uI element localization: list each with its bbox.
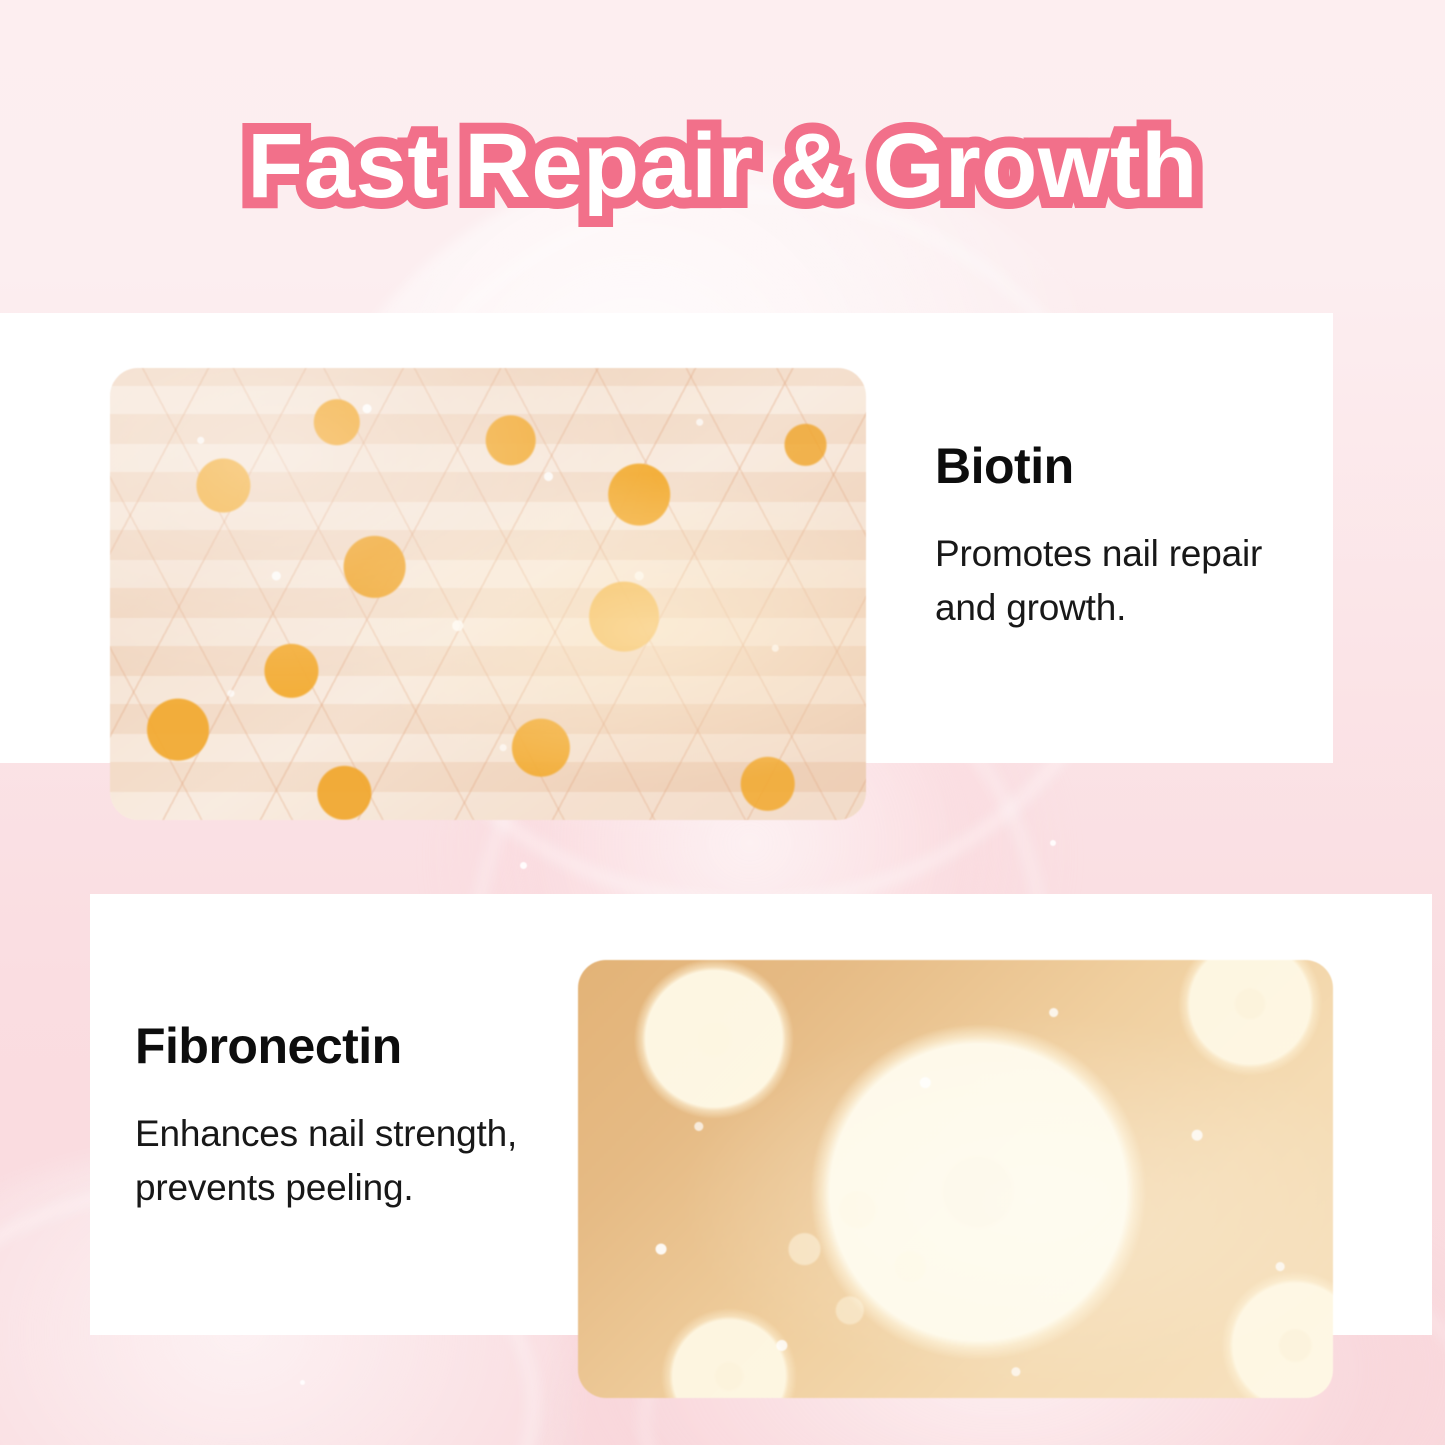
ingredient-name-fibronectin: Fibronectin (135, 1020, 605, 1073)
headline-container: Fast Repair & Growth (0, 118, 1445, 215)
page-title: Fast Repair & Growth (247, 118, 1198, 215)
sparkle-dot (1050, 840, 1056, 846)
fibronectin-vesicles-photo (578, 960, 1333, 1398)
biotin-cells-photo (110, 368, 866, 820)
sparkle-dot (520, 862, 527, 869)
ingredient-description-biotin: Promotes nail repair and growth. (935, 527, 1330, 637)
fibronectin-text-block: Fibronectin Enhances nail strength, prev… (135, 1020, 605, 1216)
ingredient-name-biotin: Biotin (935, 440, 1330, 493)
biotin-text-block: Biotin Promotes nail repair and growth. (935, 440, 1330, 636)
sparkle-dot (300, 1380, 305, 1385)
infographic-canvas: Fast Repair & Growth Biotin Promotes nai… (0, 0, 1445, 1445)
ingredient-description-fibronectin: Enhances nail strength, prevents peeling… (135, 1107, 605, 1217)
